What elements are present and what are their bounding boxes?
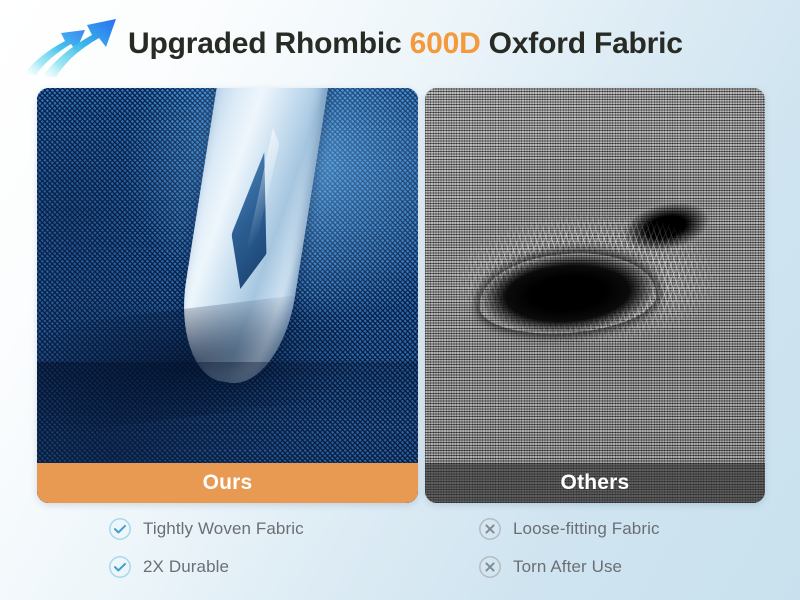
feature-item: 2X Durable: [108, 548, 304, 586]
x-circle-icon: [478, 555, 502, 579]
title-part-2: Oxford Fabric: [481, 27, 683, 60]
x-circle-icon: [478, 517, 502, 541]
feature-item: Loose-fitting Fabric: [478, 510, 660, 548]
feature-label: 2X Durable: [143, 557, 229, 577]
feature-list-others: Loose-fitting Fabric Torn After Use: [478, 510, 660, 586]
header: Upgraded Rhombic 600D Oxford Fabric: [0, 0, 800, 88]
feature-item: Tightly Woven Fabric: [108, 510, 304, 548]
fabric-image-ours: [37, 88, 418, 503]
feature-label: Tightly Woven Fabric: [143, 519, 304, 539]
fabric-hole-secondary: [618, 195, 714, 259]
blade-icon: [171, 88, 329, 392]
fabric-hole-main: [477, 248, 659, 339]
title-highlight-600d: 600D: [410, 27, 481, 60]
feature-list-ours: Tightly Woven Fabric 2X Durable: [108, 510, 304, 586]
page-title: Upgraded Rhombic 600D Oxford Fabric: [128, 29, 683, 59]
check-circle-icon: [108, 555, 132, 579]
fabric-image-others: [425, 88, 765, 503]
caption-others: Others: [425, 463, 765, 503]
check-circle-icon: [108, 517, 132, 541]
caption-ours: Ours: [37, 463, 418, 503]
comparison-panel-others: Others: [425, 88, 765, 503]
feature-label: Torn After Use: [513, 557, 622, 577]
feature-label: Loose-fitting Fabric: [513, 519, 660, 539]
comparison-panel-ours: Ours: [37, 88, 418, 503]
title-part-1: Upgraded Rhombic: [128, 27, 410, 60]
feature-item: Torn After Use: [478, 548, 660, 586]
rising-arrows-icon: [18, 5, 126, 83]
